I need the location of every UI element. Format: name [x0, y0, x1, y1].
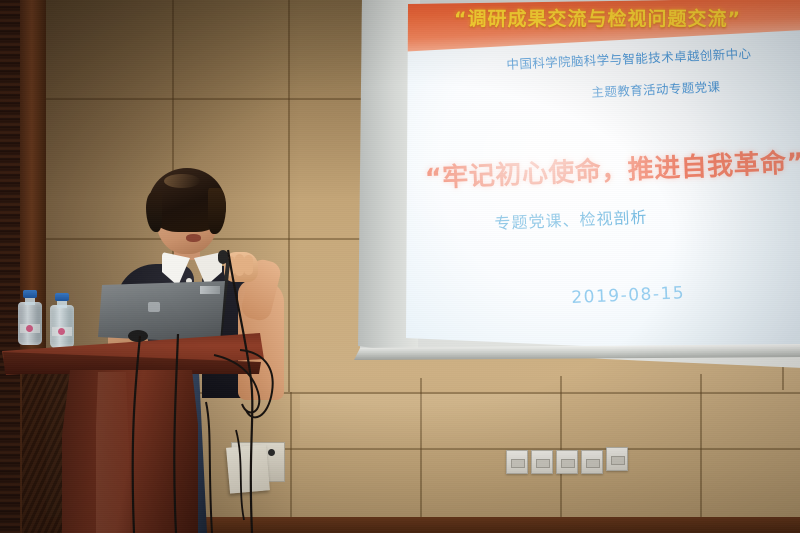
slide-org-line-2: 主题教育活动专题党课	[591, 76, 721, 101]
presenter-mouth	[186, 234, 201, 242]
light-switch-3[interactable]	[556, 450, 578, 474]
slide-date: 2019-08-15	[571, 283, 686, 308]
presenter-hair-right	[208, 188, 226, 234]
switch-rocker-icon	[611, 456, 625, 465]
light-switch-1[interactable]	[506, 450, 528, 474]
water-bottle-left[interactable]	[18, 290, 42, 345]
switch-rocker-icon	[511, 459, 525, 468]
switch-rocker-icon	[536, 459, 550, 468]
microphone-head	[218, 250, 228, 264]
bottle-cap-icon	[55, 293, 69, 301]
wall-seam	[700, 374, 702, 533]
projected-slide: “调研成果交流与检视问题交流” 中国科学院脑科学与智能技术卓越创新中心 主题教育…	[406, 0, 800, 366]
bottle-logo-icon	[26, 325, 33, 332]
switch-rocker-icon	[586, 459, 600, 468]
presentation-photo: “调研成果交流与检视问题交流” 中国科学院脑科学与智能技术卓越创新中心 主题教育…	[0, 0, 800, 533]
laptop-sticker	[200, 286, 220, 294]
outlet-hole-icon	[268, 449, 275, 456]
projection-screen: “调研成果交流与检视问题交流” 中国科学院脑科学与智能技术卓越创新中心 主题教育…	[348, 0, 800, 374]
slide-sub-title: 专题党课、检视剖析	[494, 204, 648, 234]
wall-seam	[420, 378, 422, 533]
lectern-body-highlight	[96, 372, 130, 533]
light-switch-bank[interactable]	[506, 450, 626, 474]
switch-rocker-icon	[561, 459, 575, 468]
slide-main-title: “牢记初心使命，推进自我革命”	[424, 142, 800, 195]
bottle-logo-icon	[58, 328, 65, 335]
presenter-hair-highlight	[164, 174, 200, 188]
presenter-hair-left	[146, 192, 162, 232]
bottle-cap-icon	[23, 290, 37, 298]
light-switch-2[interactable]	[531, 450, 553, 474]
outlet-cover-flap[interactable]	[226, 444, 270, 493]
finger	[244, 255, 253, 275]
light-switch-4[interactable]	[581, 450, 603, 474]
slide-banner-title: “调研成果交流与检视问题交流”	[454, 4, 741, 31]
lectern-mic-base	[128, 330, 148, 342]
light-switch-5[interactable]	[606, 447, 628, 471]
slide-org-line-1: 中国科学院脑科学与智能技术卓越创新中心	[506, 43, 752, 73]
finger	[235, 254, 244, 276]
laptop-logo-icon	[148, 302, 160, 312]
water-bottle-right[interactable]	[50, 293, 74, 348]
lectern-body	[62, 370, 198, 533]
